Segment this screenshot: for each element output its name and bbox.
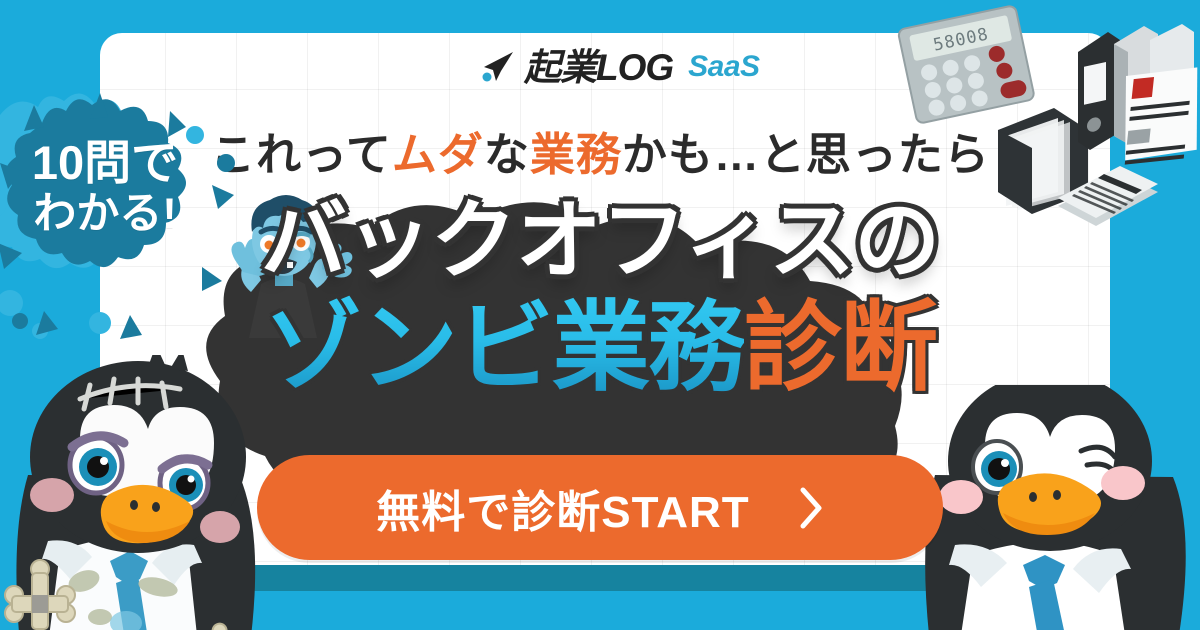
paper-plane-icon <box>479 50 515 84</box>
brand-logo[interactable]: 起業LOG SaaS <box>479 44 760 90</box>
tagline-highlight2: 業務 <box>530 129 622 180</box>
badge-line-1: 10問で <box>10 137 200 190</box>
cta-label: 無料で診断START <box>376 476 749 540</box>
badge-text: 10問で わかる! <box>10 137 200 238</box>
document-sheet-icon <box>1117 60 1200 172</box>
tagline-part2: な <box>484 129 530 180</box>
healthy-penguin-illustration <box>905 385 1200 630</box>
logo-suffix: SaaS <box>688 52 759 82</box>
office-supplies-illustration: 58008 <box>880 0 1200 244</box>
chevron-right-icon <box>798 486 824 530</box>
quiz-count-badge: 10問で わかる! <box>0 75 245 340</box>
calculator-icon: 58008 <box>898 5 1035 124</box>
tagline-highlight1: ムダ <box>392 129 484 180</box>
badge-line-2: わかる! <box>10 190 200 238</box>
start-diagnosis-button[interactable]: 無料で診断START <box>257 455 943 560</box>
headline-zonbi-gyomu: ゾンビ業務 <box>264 292 744 402</box>
logo-text: 起業LOG <box>524 49 673 86</box>
